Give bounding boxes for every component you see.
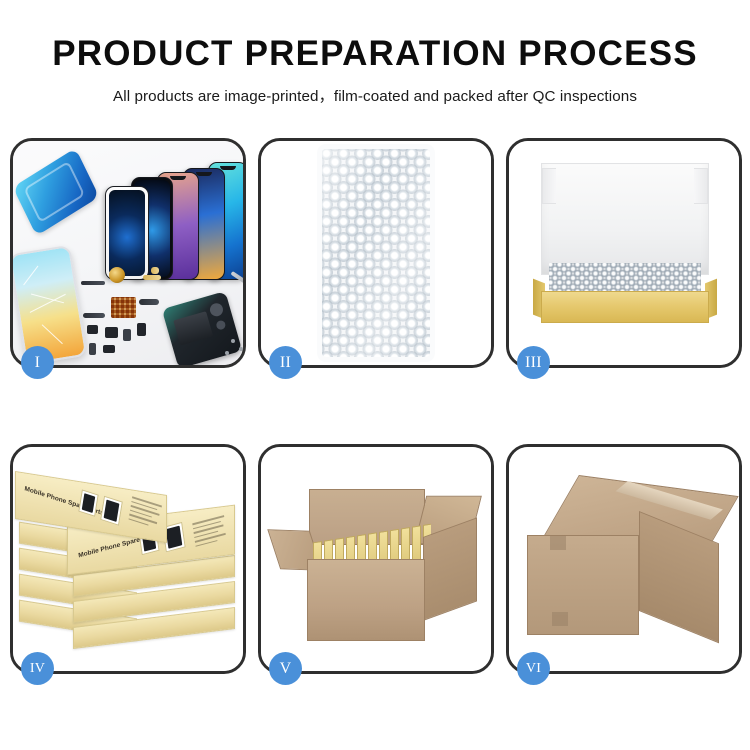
bubble-wrapped-item <box>322 149 430 357</box>
cracked-screen-phone <box>13 245 87 365</box>
step-badge-2: II <box>269 346 302 379</box>
step-badge-1: I <box>21 346 54 379</box>
part-flex-cable-2 <box>83 313 105 318</box>
box-lid <box>541 163 709 275</box>
step-badge-5: V <box>269 652 302 685</box>
box-stack: Mobile Phone Spare Parts Mobile Phone Sp… <box>15 461 241 661</box>
step-panel-2: II <box>258 138 494 368</box>
kraft-tray-front <box>541 291 709 323</box>
part-camera-module <box>137 323 146 336</box>
part-screw-2 <box>239 347 243 351</box>
step-badge-3: III <box>517 346 550 379</box>
step-image-5 <box>261 447 491 671</box>
part-button-flex <box>123 329 131 341</box>
step-image-4: Mobile Phone Spare Parts Mobile Phone Sp… <box>13 447 243 671</box>
phone-lineup <box>105 155 243 280</box>
header: PRODUCT PREPARATION PROCESS All products… <box>0 0 750 106</box>
sealed-carton <box>527 475 725 651</box>
packing-tape <box>616 481 723 520</box>
carton-front <box>307 559 425 641</box>
part-screw-1 <box>231 339 235 343</box>
part-vibrator <box>103 345 115 353</box>
step-panel-4: Mobile Phone Spare Parts Mobile Phone Sp… <box>10 444 246 674</box>
adhesive-film <box>13 148 99 236</box>
part-ic-chip-1 <box>87 325 98 334</box>
step-badge-4: IV <box>21 652 54 685</box>
lid-flap-right <box>694 168 708 204</box>
part-flex-cable-1 <box>81 281 105 285</box>
spare-parts-group <box>81 263 243 365</box>
step-image-3 <box>509 141 739 365</box>
plastic-sheen <box>322 149 430 357</box>
phone-chassis <box>162 291 243 365</box>
carton-seam-1 <box>550 536 566 550</box>
part-gold-tab <box>151 267 159 274</box>
step-image-1 <box>13 141 243 365</box>
step-badge-6: VI <box>517 652 550 685</box>
step-panel-1: I <box>10 138 246 368</box>
step-panel-6: VI <box>506 444 742 674</box>
step-panel-3: III <box>506 138 742 368</box>
step-panel-5: V <box>258 444 494 674</box>
box-window-1 <box>78 489 98 516</box>
steps-grid: I II <box>10 138 742 674</box>
part-flex-cable-3 <box>139 299 159 305</box>
lid-flap-left <box>542 168 556 204</box>
page-subtitle: All products are image-printed，film-coat… <box>0 84 750 106</box>
step-image-6 <box>509 447 739 671</box>
page-title: PRODUCT PREPARATION PROCESS <box>0 36 750 73</box>
step-image-2 <box>261 141 491 365</box>
part-ic-chip-2 <box>105 327 118 338</box>
carton-side <box>423 517 477 621</box>
tweezers-icon <box>230 271 243 291</box>
part-screw-3 <box>225 351 229 355</box>
product-preparation-infographic: PRODUCT PREPARATION PROCESS All products… <box>0 0 750 750</box>
part-speaker-coil <box>109 267 125 283</box>
part-sim-tray <box>89 343 96 355</box>
part-gold-connector <box>143 275 161 280</box>
carton-seam-2 <box>552 612 568 626</box>
part-contact-grid <box>111 297 136 318</box>
open-carton <box>273 473 481 653</box>
carton-front-side <box>527 535 639 635</box>
inner-mailer-box <box>533 163 717 331</box>
